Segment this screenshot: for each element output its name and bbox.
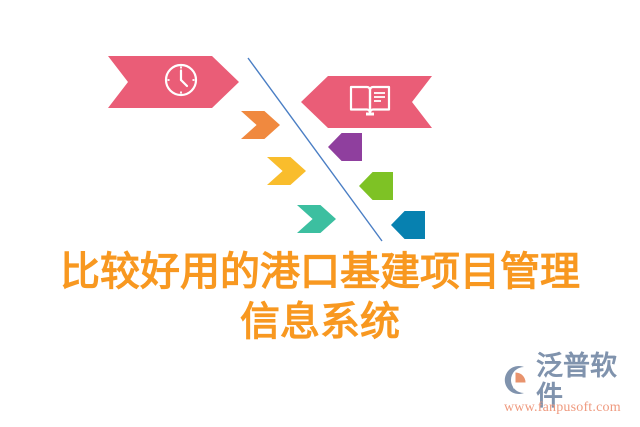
page-title-line-2: 信息系统 xyxy=(0,297,640,347)
chevron-purple[interactable] xyxy=(328,133,362,161)
banner-book[interactable] xyxy=(301,76,432,128)
chevron-yellow[interactable] xyxy=(267,157,306,185)
page-title: 比较好用的港口基建项目管理 信息系统 xyxy=(0,247,640,347)
open-book-icon xyxy=(348,81,392,124)
banner-clock[interactable] xyxy=(108,56,239,108)
fanpu-logo-mark-icon xyxy=(500,363,534,402)
chevron-green[interactable] xyxy=(359,172,393,200)
clock-icon xyxy=(162,61,200,104)
chevron-teal[interactable] xyxy=(297,205,336,233)
brand-logo-row: 泛普软件 xyxy=(500,363,636,401)
page-title-line-1: 比较好用的港口基建项目管理 xyxy=(0,247,640,297)
brand-url: www.fanpusoft.com xyxy=(504,400,636,416)
slide-canvas: 比较好用的港口基建项目管理 信息系统 泛普软件 www.fanpusoft.co… xyxy=(0,0,640,427)
brand-logo[interactable]: 泛普软件 www.fanpusoft.com xyxy=(500,363,636,419)
chevron-orange[interactable] xyxy=(241,111,280,139)
chevron-blue[interactable] xyxy=(391,211,425,239)
